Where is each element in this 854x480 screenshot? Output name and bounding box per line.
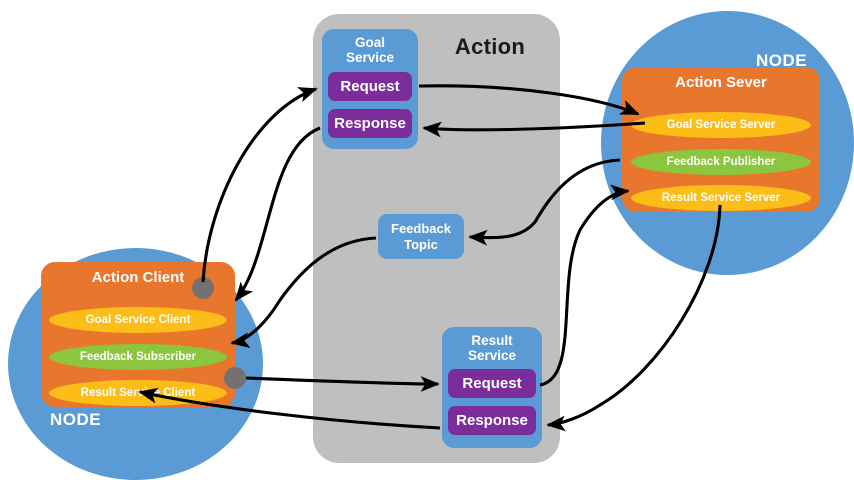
result-service-client-connector-dot (224, 367, 246, 389)
result-service-title-line1: Result (442, 333, 542, 348)
goal-service-title-line2: Service (322, 50, 418, 65)
goal-service-client-connector-dot (192, 277, 214, 299)
action-title: Action (430, 34, 550, 60)
result-service-response[interactable]: Response (448, 406, 536, 435)
arrow-goal-response-to-client (236, 128, 320, 300)
diagram-canvas: Action NODE Action Sever Goal Service Se… (0, 0, 854, 480)
pill-goal-service-client[interactable]: Goal Service Client (49, 307, 227, 333)
result-service-title-line2: Service (442, 348, 542, 363)
pill-goal-service-server[interactable]: Goal Service Server (631, 112, 811, 138)
feedback-topic-line2: Topic (404, 237, 438, 253)
result-service-title: Result Service (442, 333, 542, 363)
action-server-box: Action Sever Goal Service Server Feedbac… (622, 67, 820, 212)
pill-result-service-client[interactable]: Result Service Client (49, 380, 227, 406)
feedback-topic-box[interactable]: Feedback Topic (378, 214, 464, 259)
result-service-box: Result Service Request Response (442, 327, 542, 448)
pill-result-service-server[interactable]: Result Service Server (631, 185, 811, 211)
result-service-request[interactable]: Request (448, 369, 536, 398)
action-server-title: Action Sever (622, 74, 820, 91)
goal-service-box: Goal Service Request Response (322, 29, 418, 149)
feedback-topic-line1: Feedback (391, 221, 451, 237)
arrow-client-to-goal-request (203, 89, 316, 282)
pill-feedback-publisher[interactable]: Feedback Publisher (631, 149, 811, 175)
goal-service-request[interactable]: Request (328, 72, 412, 101)
pill-feedback-subscriber[interactable]: Feedback Subscriber (49, 344, 227, 370)
node-label-client: NODE (50, 410, 101, 430)
goal-service-title: Goal Service (322, 35, 418, 65)
goal-service-title-line1: Goal (322, 35, 418, 50)
goal-service-response[interactable]: Response (328, 109, 412, 138)
